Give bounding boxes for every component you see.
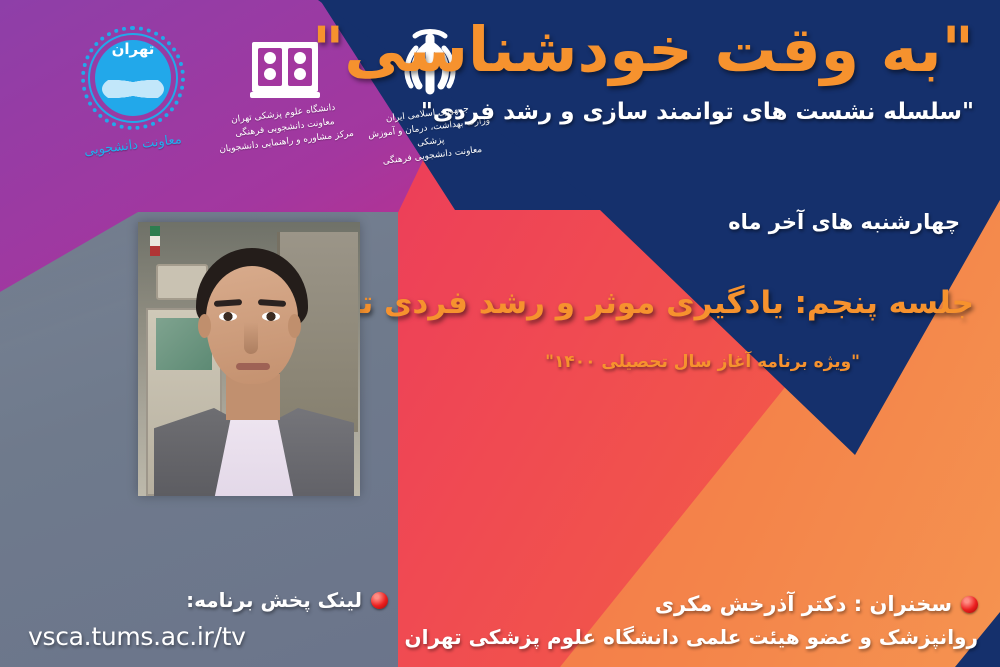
poster-subtitle: "سلسله نشست های توانمند سازی و رشد فردی"	[374, 99, 974, 125]
seal-mark-label: تهران	[112, 40, 155, 58]
logo-university-of-tehran: تهران معاونت دانشجویی	[58, 26, 208, 156]
session-title: جلسه پنجم: یادگیری موثر و رشد فردی تحصیل…	[354, 285, 974, 321]
broadcast-link-block: لینک پخش برنامه: vsca.tums.ac.ir/tv	[28, 588, 388, 651]
seal-wings-icon	[102, 74, 164, 104]
broadcast-url[interactable]: vsca.tums.ac.ir/tv	[28, 622, 388, 651]
logo-caption-tums: دانشگاه علوم پزشکی تهران معاونت دانشجویی…	[208, 99, 362, 159]
speaker-block: سخنران : دکتر آذرخش مکری روانپزشک و عضو …	[338, 592, 978, 649]
university-of-tehran-seal-icon: تهران	[81, 26, 185, 130]
speaker-affiliation: روانپزشک و عضو هیئت علمی دانشگاه علوم پز…	[338, 625, 978, 649]
schedule-line: چهارشنبه های آخر ماه	[400, 210, 960, 234]
open-book-icon	[250, 38, 320, 100]
speaker-name: سخنران : دکتر آذرخش مکری	[655, 592, 952, 616]
speaker-portrait-photo	[138, 222, 360, 496]
broadcast-link-label-row: لینک پخش برنامه:	[28, 588, 388, 612]
iran-flag-icon	[150, 226, 160, 256]
poster-title: "به وقت خودشناسی"	[374, 14, 974, 85]
red-bullet-icon	[371, 592, 388, 609]
logo-caption-university-of-tehran: معاونت دانشجویی	[57, 127, 208, 165]
red-bullet-icon	[961, 596, 978, 613]
event-poster: تهران معاونت دانشجویی دانشگاه	[0, 0, 1000, 667]
speaker-name-row: سخنران : دکتر آذرخش مکری	[338, 592, 978, 616]
broadcast-link-label: لینک پخش برنامه:	[186, 588, 362, 612]
special-program-note: "ویژه برنامه آغاز سال تحصیلی ۱۴۰۰"	[400, 352, 860, 372]
headline-block: "به وقت خودشناسی" "سلسله نشست های توانمن…	[374, 14, 974, 125]
